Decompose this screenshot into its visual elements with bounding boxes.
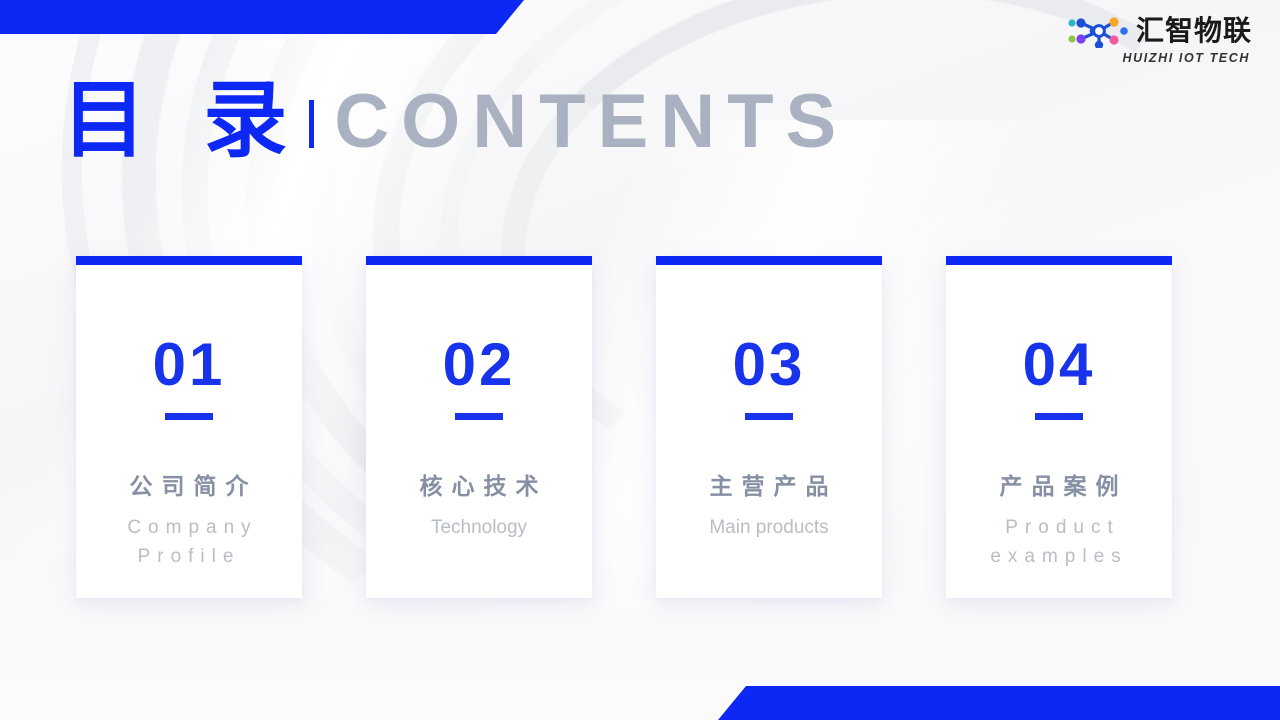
card-number-underline xyxy=(165,413,213,420)
card-title-en: Technology xyxy=(366,514,592,543)
bottom-right-blue-bar xyxy=(718,686,1280,720)
card-top-accent-bar xyxy=(76,256,302,265)
card-title-cn: 公司简介 xyxy=(121,467,258,501)
page-title: 目 录 CONTENTS xyxy=(62,78,848,162)
logo-company-name-en: HUIZHI IOT TECH xyxy=(1123,51,1250,65)
card-title-cn: 产品案例 xyxy=(991,467,1128,501)
contents-card-01[interactable]: 01 公司简介 Company Profile xyxy=(76,256,302,598)
company-logo: 汇智物联 HUIZHI IOT TECH xyxy=(1068,14,1252,65)
card-number-underline xyxy=(1035,413,1083,420)
title-separator-bar xyxy=(309,100,314,148)
page-title-cn: 目 录 xyxy=(62,78,301,162)
card-number: 04 xyxy=(1023,335,1096,395)
page-title-en: CONTENTS xyxy=(334,84,848,160)
card-number: 01 xyxy=(153,335,226,395)
card-title-en: Company Profile xyxy=(76,514,302,572)
card-top-accent-bar xyxy=(366,256,592,265)
contents-card-04[interactable]: 04 产品案例 Product examples xyxy=(946,256,1172,598)
card-top-accent-bar xyxy=(656,256,882,265)
card-top-accent-bar xyxy=(946,256,1172,265)
contents-card-03[interactable]: 03 主营产品 Main products xyxy=(656,256,882,598)
logo-company-name-cn: 汇智物联 xyxy=(1136,17,1252,45)
card-title-en: Product examples xyxy=(946,514,1172,572)
logo-row: 汇智物联 xyxy=(1068,14,1252,48)
card-number: 03 xyxy=(733,335,806,395)
contents-card-02[interactable]: 02 核心技术 Technology xyxy=(366,256,592,598)
contents-card-list: 01 公司简介 Company Profile 02 核心技术 Technolo… xyxy=(76,256,1172,598)
slide-contents: 汇智物联 HUIZHI IOT TECH 目 录 CONTENTS 01 公司简… xyxy=(0,0,1280,720)
card-title-cn: 核心技术 xyxy=(411,467,548,501)
card-title-en: Main products xyxy=(656,514,882,543)
card-number-underline xyxy=(745,413,793,420)
top-left-blue-bar xyxy=(0,0,524,34)
molecule-network-icon xyxy=(1068,14,1130,48)
card-number: 02 xyxy=(443,335,516,395)
card-number-underline xyxy=(455,413,503,420)
card-title-cn: 主营产品 xyxy=(701,467,838,501)
